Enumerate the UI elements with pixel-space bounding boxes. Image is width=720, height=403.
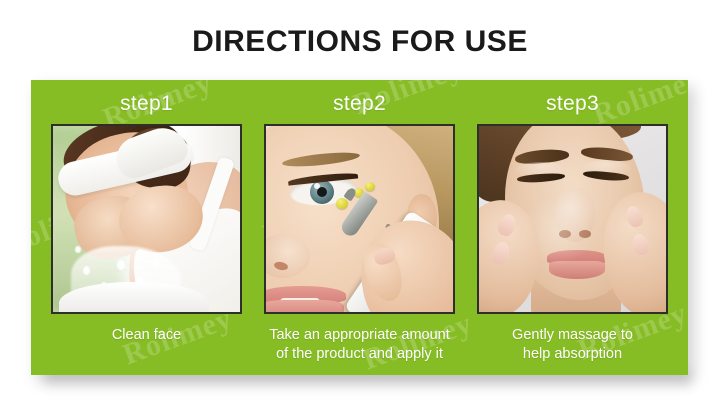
- page-title: DIRECTIONS FOR USE: [0, 24, 720, 60]
- step-1: step1: [48, 80, 245, 375]
- step-3-caption-line-1: Gently massage to: [470, 326, 675, 345]
- step-2: step2: [261, 80, 458, 375]
- step-3: step3: [474, 80, 671, 375]
- step-2-caption: Take an appropriate amount of the produc…: [257, 326, 462, 364]
- step-1-caption: Clean face: [44, 326, 249, 345]
- steps-container: step1: [31, 80, 688, 375]
- step-2-caption-line-1: Take an appropriate amount: [257, 326, 462, 345]
- step-2-label: step2: [333, 90, 386, 118]
- step-1-photo: [51, 124, 242, 314]
- step-3-caption-line-2: help absorption: [470, 345, 675, 364]
- step-3-photo: [477, 124, 668, 314]
- step-2-photo: [264, 124, 455, 314]
- instructions-panel: Rolimey Rolimey Rolimey Rolimey Rolimey …: [31, 80, 688, 375]
- step-3-label: step3: [546, 90, 599, 118]
- step-1-label: step1: [120, 90, 173, 118]
- step-3-caption: Gently massage to help absorption: [470, 326, 675, 364]
- step-2-caption-line-2: of the product and apply it: [257, 345, 462, 364]
